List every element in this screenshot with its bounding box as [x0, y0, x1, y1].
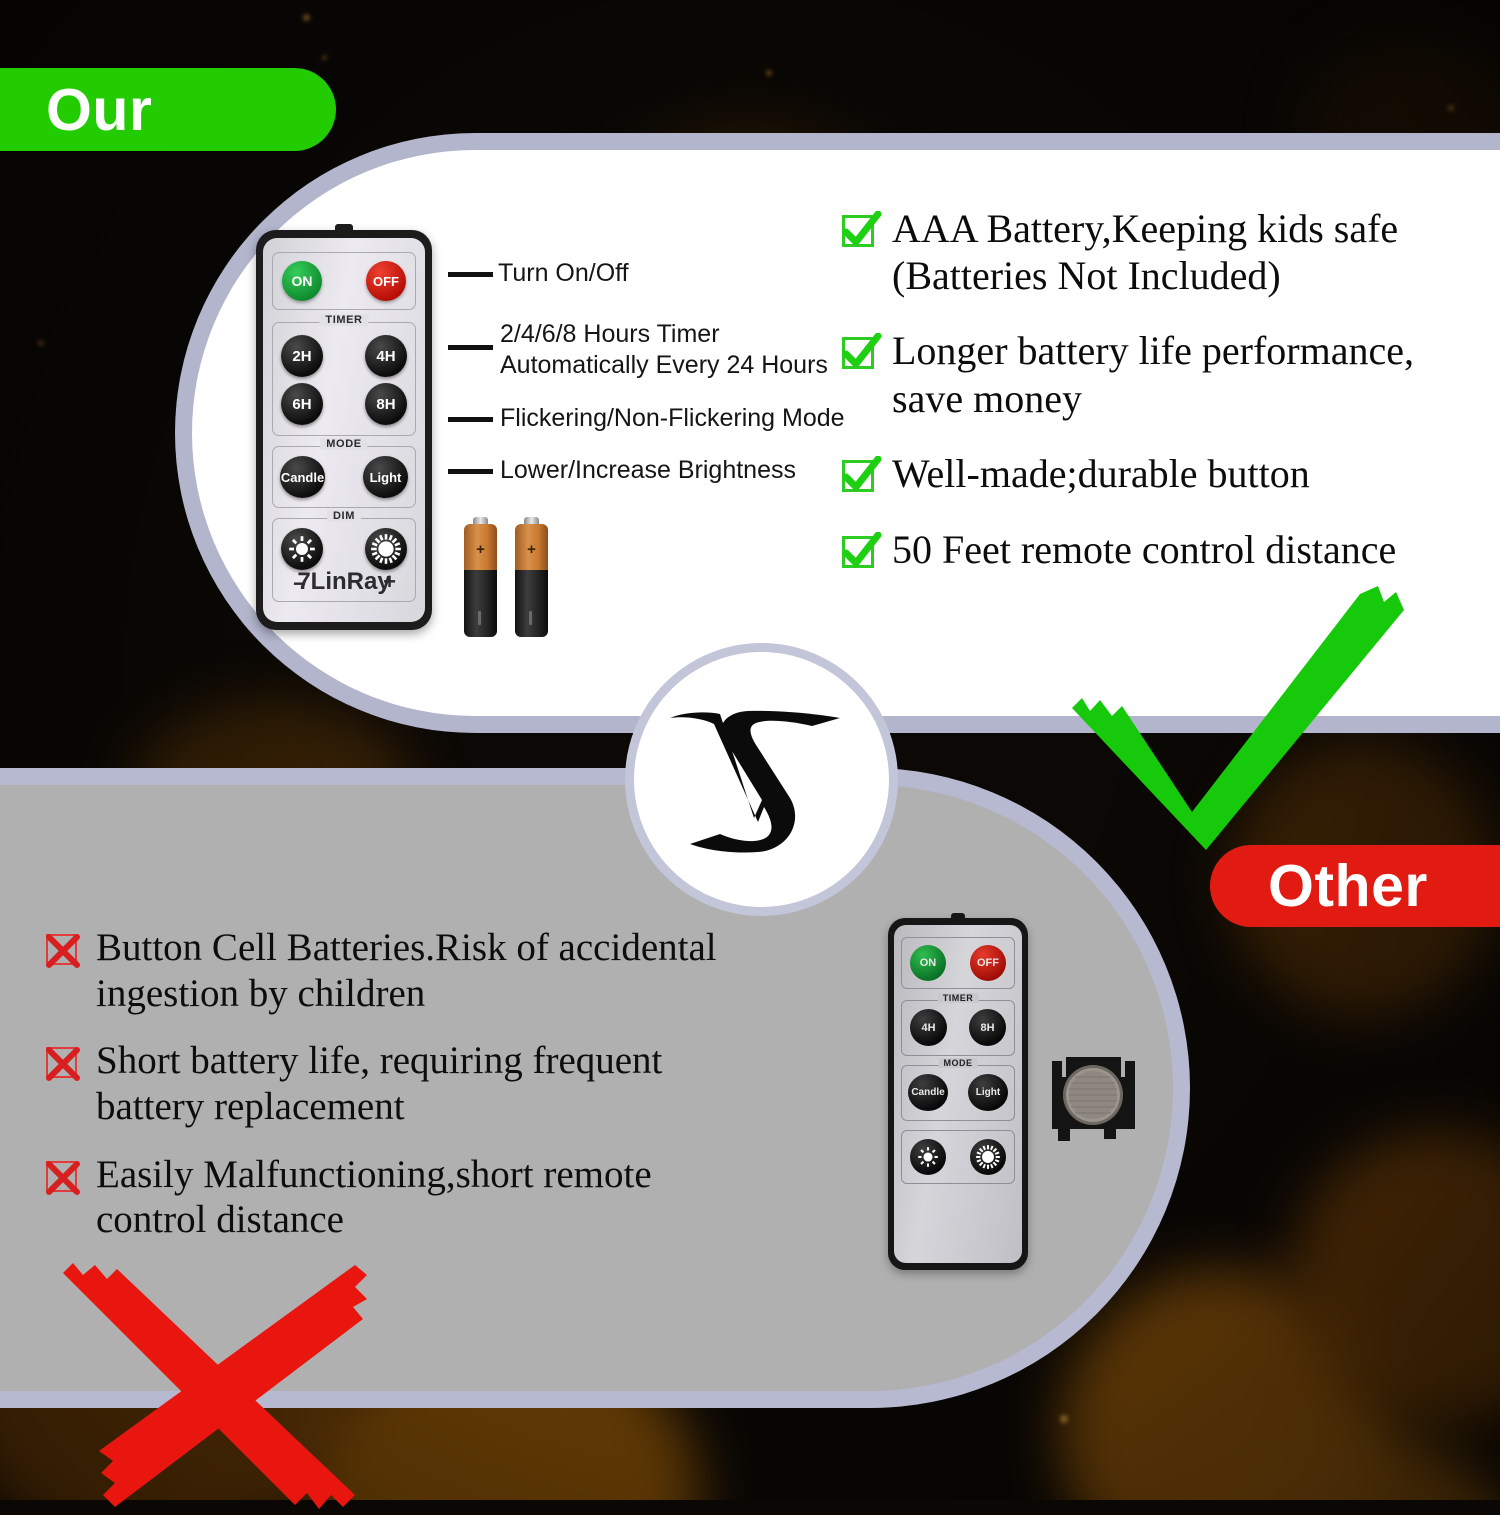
cross-icon: [46, 1047, 82, 1083]
other-remote-control: ON OFF TIMER 4H 8H MODE Candle Light: [888, 918, 1028, 1270]
timer-2h-button[interactable]: 2H: [281, 335, 323, 377]
remote-faceplate: ON OFF TIMER 4H 8H MODE Candle Light: [894, 925, 1022, 1263]
con-line-2: ingestion by children: [96, 971, 717, 1017]
pro-line-2: save money: [892, 375, 1414, 422]
con-text: Button Cell Batteries.Risk of accidental…: [96, 925, 717, 1016]
cross-icon: [46, 1161, 82, 1197]
con-item: Easily Malfunctioning,short remote contr…: [46, 1152, 806, 1243]
timer-4h-button[interactable]: 4H: [365, 335, 407, 377]
pro-line-1: Longer battery life performance,: [892, 327, 1414, 374]
coin-cell-battery-holder: [1046, 1043, 1141, 1158]
check-mark-icon: [840, 532, 882, 574]
timer-group-label: TIMER: [938, 993, 979, 1003]
mode-group-label: MODE: [320, 438, 367, 450]
light-mode-button[interactable]: Light: [968, 1074, 1008, 1111]
cross-icon: [46, 934, 82, 970]
callout-line-1: Flickering/Non-Flickering Mode: [500, 403, 845, 434]
light-mode-button[interactable]: Light: [363, 456, 408, 498]
callout-line-2: Automatically Every 24 Hours: [500, 350, 828, 381]
check-icon: [840, 211, 882, 253]
brightness-low-icon: [915, 1144, 941, 1170]
dim-button-group: [901, 1130, 1015, 1184]
callout-line-1: Turn On/Off: [498, 258, 629, 289]
timer-group-label: TIMER: [319, 314, 368, 326]
callout-mode: Flickering/Non-Flickering Mode: [500, 403, 845, 434]
timer-8h-button[interactable]: 8H: [365, 383, 407, 425]
pro-text: Longer battery life performance, save mo…: [892, 327, 1414, 421]
callout-leader-line: [448, 272, 493, 277]
pro-item: AAA Battery,Keeping kids safe (Batteries…: [840, 205, 1490, 299]
mode-group-label: MODE: [939, 1058, 978, 1068]
check-icon: [840, 333, 882, 375]
pro-line-2: (Batteries Not Included): [892, 252, 1398, 299]
pro-item: Longer battery life performance, save mo…: [840, 327, 1490, 421]
check-mark-icon: [840, 456, 882, 498]
power-button-group: ON OFF: [901, 937, 1015, 989]
con-line-1: Short battery life, requiring frequent: [96, 1038, 662, 1084]
brightness-low-icon: [286, 533, 318, 565]
con-line-1: Easily Malfunctioning,short remote: [96, 1152, 652, 1198]
off-button[interactable]: OFF: [970, 945, 1006, 981]
candle-mode-button[interactable]: Candle: [908, 1074, 948, 1111]
battery-negative-mark: [529, 611, 532, 625]
pro-text: 50 Feet remote control distance: [892, 526, 1396, 573]
battery-negative-mark: [478, 611, 481, 625]
callout-leader-line: [448, 469, 493, 474]
pro-line-1: 50 Feet remote control distance: [892, 526, 1396, 573]
brightness-high-icon: [369, 532, 403, 566]
mode-button-group: MODE Candle Light: [901, 1065, 1015, 1121]
our-remote-control: ON OFF TIMER 2H 4H 6H 8H MODE Candle Lig…: [256, 230, 432, 630]
timer-button-group: TIMER 2H 4H 6H 8H: [272, 322, 416, 436]
check-icon: [840, 532, 882, 574]
callout-leader-line: [448, 345, 493, 350]
vs-badge: [625, 643, 898, 916]
dim-up-button[interactable]: [970, 1139, 1006, 1175]
pro-line-1: Well-made;durable button: [892, 450, 1310, 497]
callout-turn-on-off: Turn On/Off: [498, 258, 629, 289]
aaa-battery: +: [464, 517, 497, 637]
check-icon: [840, 456, 882, 498]
check-mark-icon: [840, 333, 882, 375]
on-button[interactable]: ON: [282, 261, 322, 301]
candle-mode-button[interactable]: Candle: [280, 456, 325, 498]
remote-brand-label: 7LinRay: [263, 568, 425, 596]
pro-item: Well-made;durable button: [840, 450, 1490, 498]
check-mark-icon: [840, 211, 882, 253]
con-line-2: control distance: [96, 1197, 652, 1243]
big-green-check-icon: [1060, 580, 1420, 870]
cons-list: Button Cell Batteries.Risk of accidental…: [46, 925, 806, 1265]
remote-ir-nub: [335, 224, 353, 232]
pro-text: AAA Battery,Keeping kids safe (Batteries…: [892, 205, 1398, 299]
pro-item: 50 Feet remote control distance: [840, 526, 1490, 574]
callout-brightness: Lower/Increase Brightness: [500, 455, 796, 486]
battery-black-body: [515, 570, 548, 637]
con-text: Short battery life, requiring frequent b…: [96, 1038, 662, 1129]
timer-8h-button[interactable]: 8H: [969, 1009, 1006, 1046]
con-item: Short battery life, requiring frequent b…: [46, 1038, 806, 1129]
brightness-high-icon: [974, 1143, 1002, 1171]
big-red-cross-icon: [55, 1245, 385, 1515]
dim-down-button[interactable]: [910, 1139, 946, 1175]
off-button[interactable]: OFF: [366, 261, 406, 301]
callout-line-1: 2/4/6/8 Hours Timer: [500, 319, 828, 350]
remote-ir-nub: [951, 913, 965, 920]
timer-4h-button[interactable]: 4H: [910, 1009, 947, 1046]
callout-line-1: Lower/Increase Brightness: [500, 455, 796, 486]
timer-6h-button[interactable]: 6H: [281, 383, 323, 425]
vs-logo-icon: [662, 700, 862, 860]
dim-up-button[interactable]: [365, 528, 407, 570]
timer-button-group: TIMER 4H 8H: [901, 1000, 1015, 1056]
cross-mark-icon: [44, 1159, 82, 1197]
dim-group-label: DIM: [327, 510, 361, 522]
callout-leader-line: [448, 417, 493, 422]
power-button-group: ON OFF: [272, 252, 416, 310]
battery-plus-mark: +: [515, 541, 548, 558]
mode-button-group: MODE Candle Light: [272, 446, 416, 508]
remote-faceplate: ON OFF TIMER 2H 4H 6H 8H MODE Candle Lig…: [263, 238, 425, 622]
cross-mark-icon: [44, 1045, 82, 1083]
on-button[interactable]: ON: [910, 945, 946, 981]
con-text: Easily Malfunctioning,short remote contr…: [96, 1152, 652, 1243]
cross-mark-icon: [44, 932, 82, 970]
pro-line-1: AAA Battery,Keeping kids safe: [892, 205, 1398, 252]
battery-plus-mark: +: [464, 541, 497, 558]
pros-list: AAA Battery,Keeping kids safe (Batteries…: [840, 205, 1490, 602]
our-badge: Our: [0, 68, 336, 151]
battery-black-body: [464, 570, 497, 637]
con-item: Button Cell Batteries.Risk of accidental…: [46, 925, 806, 1016]
pro-text: Well-made;durable button: [892, 450, 1310, 497]
con-line-1: Button Cell Batteries.Risk of accidental: [96, 925, 717, 971]
aaa-battery: +: [515, 517, 548, 637]
dim-down-button[interactable]: [281, 528, 323, 570]
con-line-2: battery replacement: [96, 1084, 662, 1130]
callout-timer: 2/4/6/8 Hours Timer Automatically Every …: [500, 319, 828, 382]
